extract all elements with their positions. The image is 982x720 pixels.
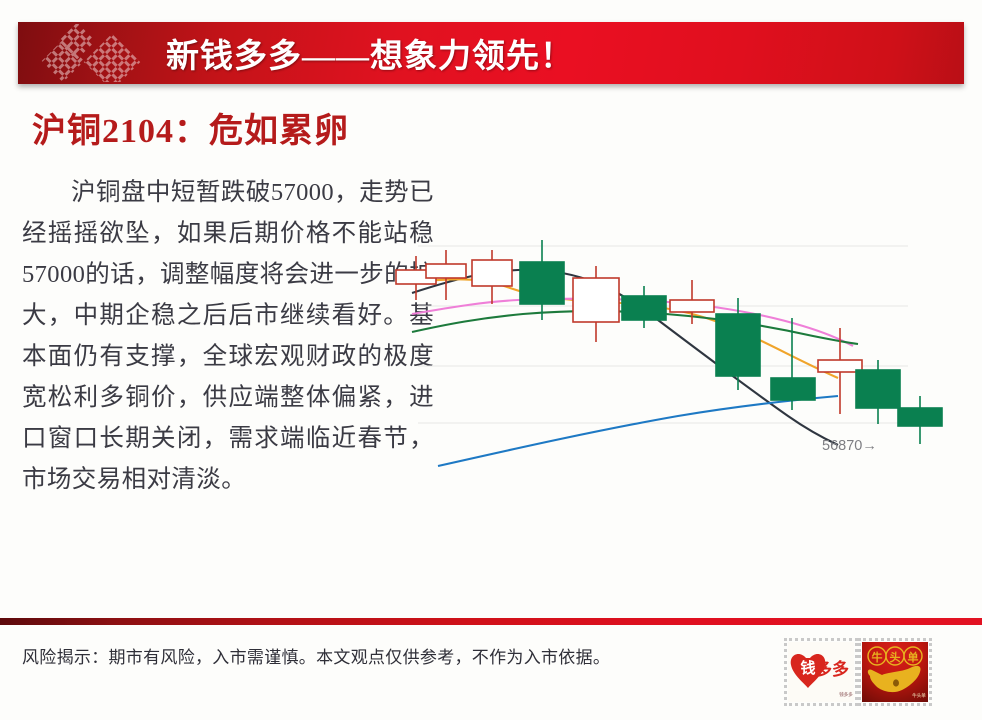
stamp-qian-duo-duo: 钱 多多 钱多多 <box>784 638 858 706</box>
support-trendline <box>438 396 838 466</box>
footer-stamps: 钱 多多 钱多多 牛 <box>784 638 932 706</box>
candle-down <box>520 240 564 320</box>
footer-divider <box>0 618 982 625</box>
stamp-niu-tou-dan: 牛 头 单 牛头单 <box>858 638 932 706</box>
article-title: 沪铜2104：危如累卵 <box>32 103 349 152</box>
footer-disclaimer: 风险揭示：期市有风险，入市需谨慎。本文观点仅供参考，不作为入市依据。 <box>22 643 610 668</box>
header-banner: 新钱多多——想象力领先！ <box>18 22 964 84</box>
candle-down <box>898 396 942 444</box>
header-title: 新钱多多——想象力领先！ <box>166 29 574 77</box>
candle-down <box>856 360 900 424</box>
candle-up <box>573 266 619 342</box>
stamp-perforation-edge <box>858 638 932 706</box>
slide-page: 新钱多多——想象力领先！ 沪铜2104：危如累卵 沪铜盘中短暂跌破57000，走… <box>0 0 982 720</box>
candle-up <box>472 250 512 304</box>
diamond-lattice-logo-icon <box>40 24 158 82</box>
candle-up <box>426 250 466 300</box>
article-body-text: 沪铜盘中短暂跌破57000，走势已经摇摇欲坠，如果后期价格不能站稳57000的话… <box>22 172 434 500</box>
price-marker-label: 56870→ <box>822 438 877 454</box>
candle-down <box>716 298 760 390</box>
stamp-perforation-edge <box>784 638 858 706</box>
candle-series <box>396 240 942 444</box>
